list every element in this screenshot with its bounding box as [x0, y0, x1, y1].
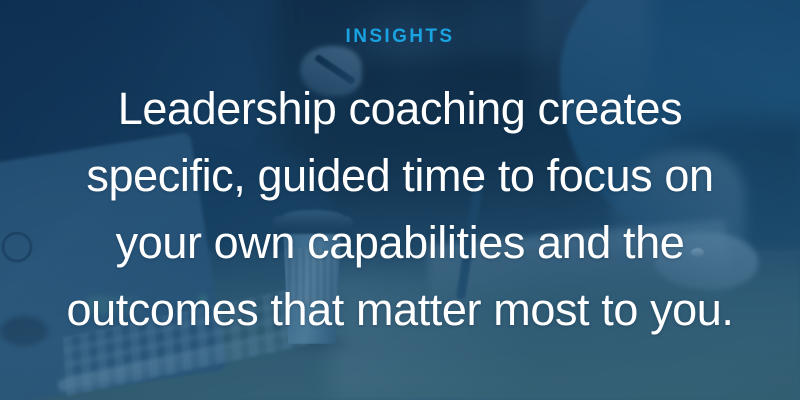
quote-line-2: specific, guided time to focus on: [5, 142, 795, 209]
insights-quote-card: INSIGHTS Leadership coaching creates spe…: [0, 0, 800, 400]
eyebrow-label: INSIGHTS: [346, 27, 455, 46]
quote-line-4: outcomes that matter most to you.: [5, 276, 795, 343]
quote-text: Leadership coaching creates specific, gu…: [5, 75, 795, 343]
quote-line-1: Leadership coaching creates: [5, 75, 795, 142]
card-content: INSIGHTS Leadership coaching creates spe…: [0, 0, 800, 400]
quote-line-3: your own capabilities and the: [5, 209, 795, 276]
